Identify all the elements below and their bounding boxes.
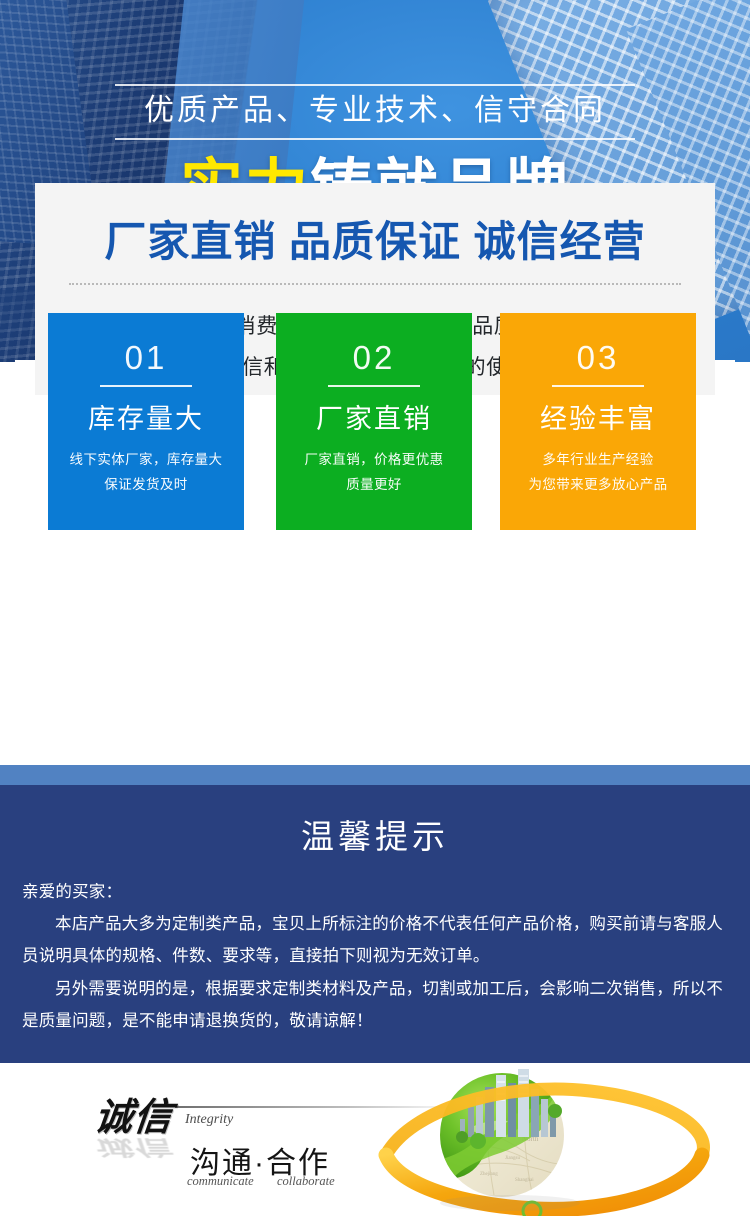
tips-greeting: 亲爱的买家：: [22, 876, 728, 908]
feature-card-number: 03: [500, 339, 696, 377]
feature-card-divider: [100, 385, 192, 387]
feature-card-desc-line-1: 线下实体厂家，库存量大: [48, 448, 244, 473]
feature-card-title: 经验丰富: [500, 397, 696, 436]
footer-tagline-en-right: collaborate: [277, 1174, 335, 1189]
svg-text:Zhejiang: Zhejiang: [480, 1172, 498, 1177]
feature-card-desc-line-1: 多年行业生产经验: [500, 448, 696, 473]
feature-card-description: 线下实体厂家，库存量大 保证发货及时: [48, 448, 244, 498]
feature-card-desc-line-1: 厂家直销，价格更优惠: [276, 448, 472, 473]
feature-card-number: 02: [276, 339, 472, 377]
feature-card-number: 01: [48, 339, 244, 377]
feature-card-desc-line-2: 为您带来更多放心产品: [500, 473, 696, 498]
footer-brand-cn: 诚信: [92, 1086, 176, 1141]
slogan-headline: 厂家直销 品质保证 诚信经营: [35, 183, 715, 269]
green-globe-city-icon: North Jiangsu Zhejiang Shanghai: [350, 1063, 750, 1216]
tips-paragraph-1: 本店产品大多为定制类产品，宝贝上所标注的价格不代表任何产品价格，购买前请与客服人…: [22, 908, 728, 972]
feature-card-03[interactable]: 03 经验丰富 多年行业生产经验 为您带来更多放心产品: [500, 313, 696, 530]
feature-card-01[interactable]: 01 库存量大 线下实体厂家，库存量大 保证发货及时: [48, 313, 244, 530]
feature-card-description: 多年行业生产经验 为您带来更多放心产品: [500, 448, 696, 498]
product-detail-page: 优质产品、专业技术、信守合同 实力铸就品牌 我们标示价格根据市场价不定时会有变动…: [0, 0, 750, 1216]
feature-card-divider: [328, 385, 420, 387]
svg-text:Shanghai: Shanghai: [515, 1178, 534, 1183]
hero-subtitle: 优质产品、专业技术、信守合同: [115, 84, 635, 140]
divider-band: [0, 765, 750, 785]
footer-tagline-en-left: communicate: [187, 1174, 254, 1189]
tips-paragraph-2: 另外需要说明的是，根据要求定制类材料及产品，切割或加工后，会影响二次销售，所以不…: [22, 973, 728, 1037]
feature-card-title: 库存量大: [48, 397, 244, 436]
feature-card-desc-line-2: 保证发货及时: [48, 473, 244, 498]
tips-title: 温馨提示: [0, 785, 750, 858]
tips-section: 温馨提示 亲爱的买家： 本店产品大多为定制类产品，宝贝上所标注的价格不代表任何产…: [0, 785, 750, 1063]
feature-card-02[interactable]: 02 厂家直销 厂家直销，价格更优惠 质量更好: [276, 313, 472, 530]
feature-card-title: 厂家直销: [276, 397, 472, 436]
feature-card-desc-line-2: 质量更好: [276, 473, 472, 498]
feature-cards: 01 库存量大 线下实体厂家，库存量大 保证发货及时 02 厂家直销 厂家直销，…: [0, 313, 750, 563]
feature-card-divider: [552, 385, 644, 387]
footer-brand-en: Integrity: [185, 1112, 233, 1128]
slogan-dotted-divider: [69, 283, 681, 285]
feature-card-description: 厂家直销，价格更优惠 质量更好: [276, 448, 472, 498]
svg-text:Jiangsu: Jiangsu: [505, 1156, 521, 1161]
tips-body: 亲爱的买家： 本店产品大多为定制类产品，宝贝上所标注的价格不代表任何产品价格，购…: [0, 858, 750, 1037]
